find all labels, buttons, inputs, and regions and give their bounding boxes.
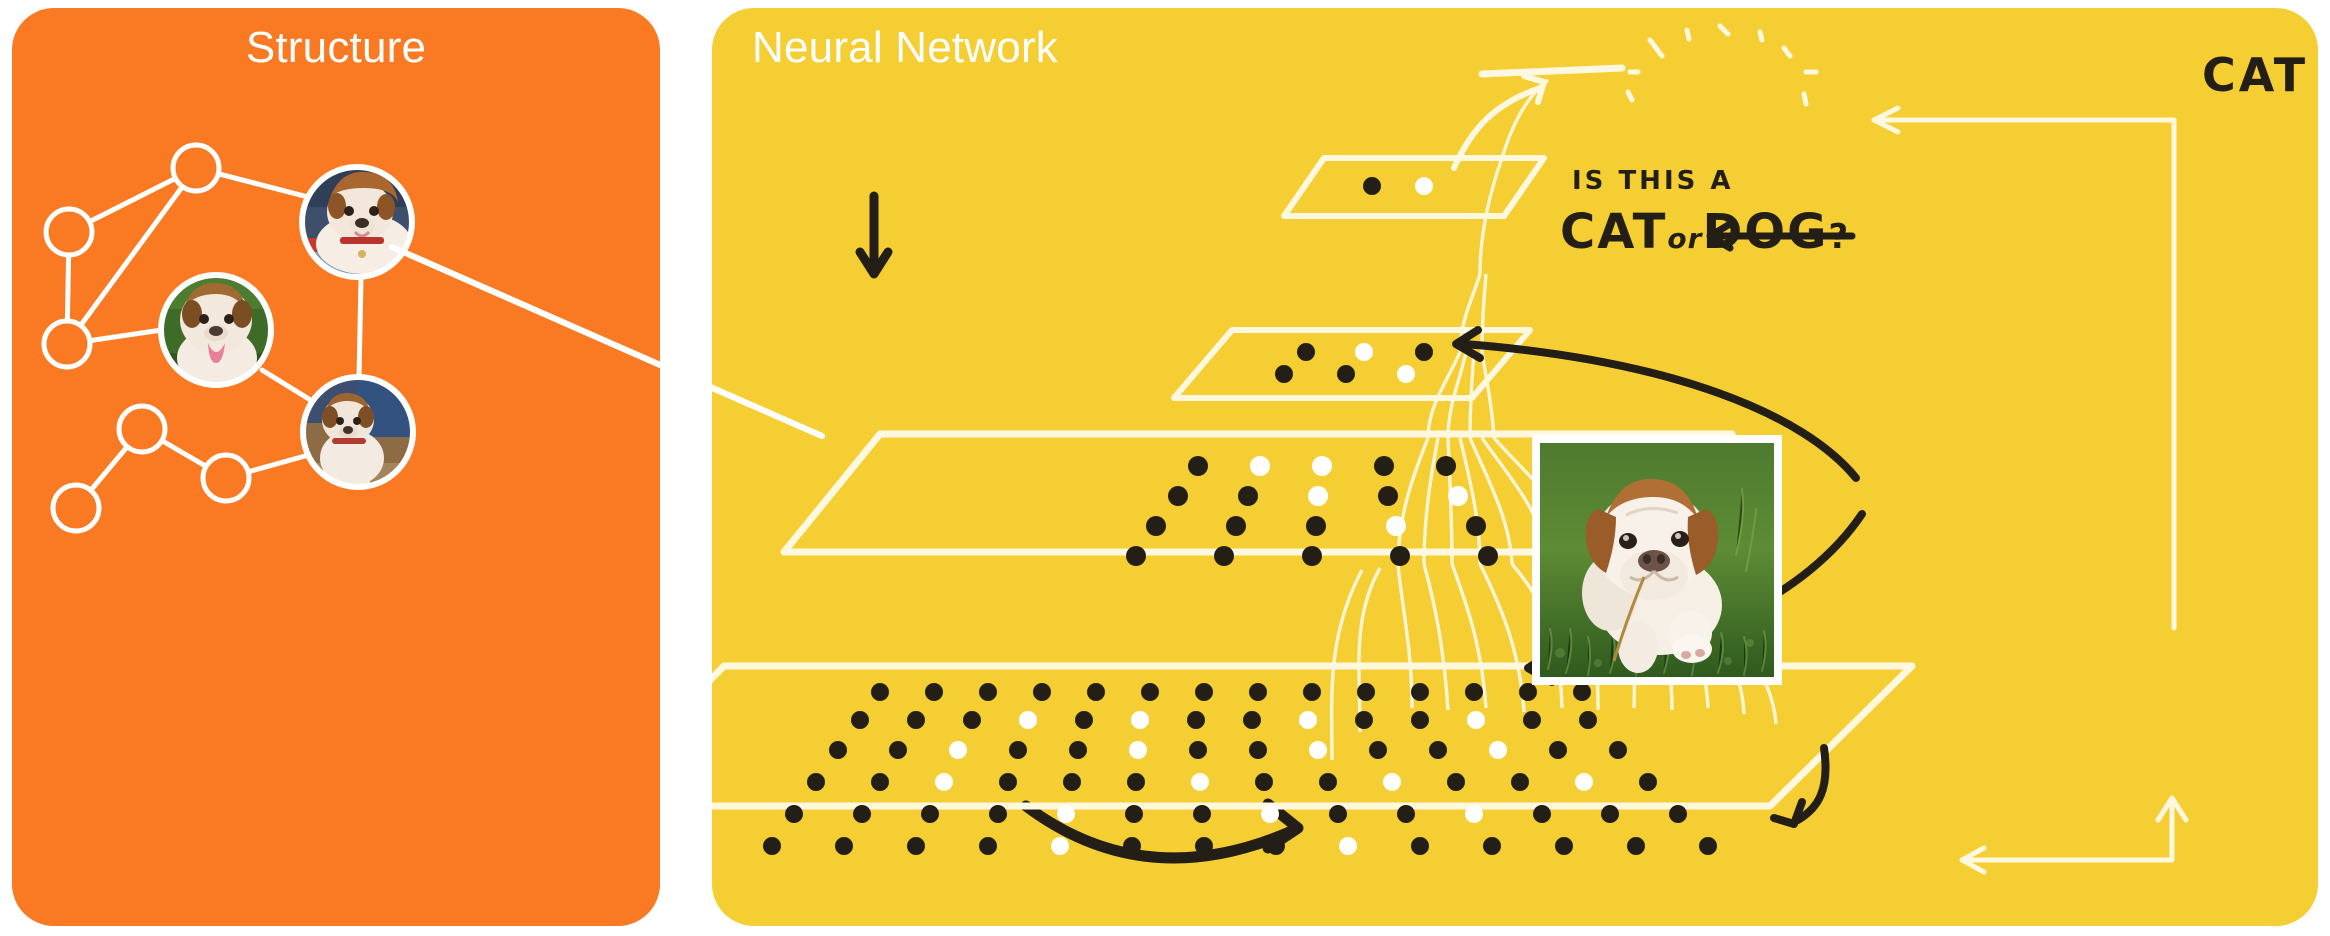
bulldog-puppy-photo xyxy=(1540,443,1774,677)
graph-node[interactable] xyxy=(46,209,92,255)
graph-node[interactable] xyxy=(173,145,219,191)
output-to-dog-arrow xyxy=(1454,76,1544,168)
neural-network-panel: Neural Network IS THIS A CATorDOG? CAT D… xyxy=(712,8,2318,926)
layer-input-neurons xyxy=(763,683,1717,855)
network-pyramid-diagram xyxy=(712,8,2318,926)
question-down-arrow xyxy=(860,196,888,274)
layer-hidden-2[interactable] xyxy=(1174,330,1530,398)
structure-panel: Structure xyxy=(12,8,660,926)
graph-node[interactable] xyxy=(53,485,99,531)
slide-canvas: Structure xyxy=(0,0,2330,936)
panel-gap xyxy=(660,0,712,936)
layer-output[interactable] xyxy=(1284,158,1544,216)
graph-node[interactable] xyxy=(119,406,165,452)
layer-output-neurons xyxy=(1363,177,1433,195)
layer-hidden-2-neurons xyxy=(1275,343,1433,383)
graph-edge xyxy=(359,278,361,378)
output-layer-callout-arrow xyxy=(1710,224,1852,248)
cat-strikethrough xyxy=(1482,68,1622,74)
deep-network-bracket xyxy=(1874,108,2186,872)
dog-sparkles xyxy=(1628,26,1816,104)
input-photo-card[interactable] xyxy=(1532,435,1782,685)
structure-graph xyxy=(12,8,660,926)
graph-node[interactable] xyxy=(203,455,249,501)
graph-edge xyxy=(262,370,317,404)
graph-node[interactable] xyxy=(44,321,90,367)
